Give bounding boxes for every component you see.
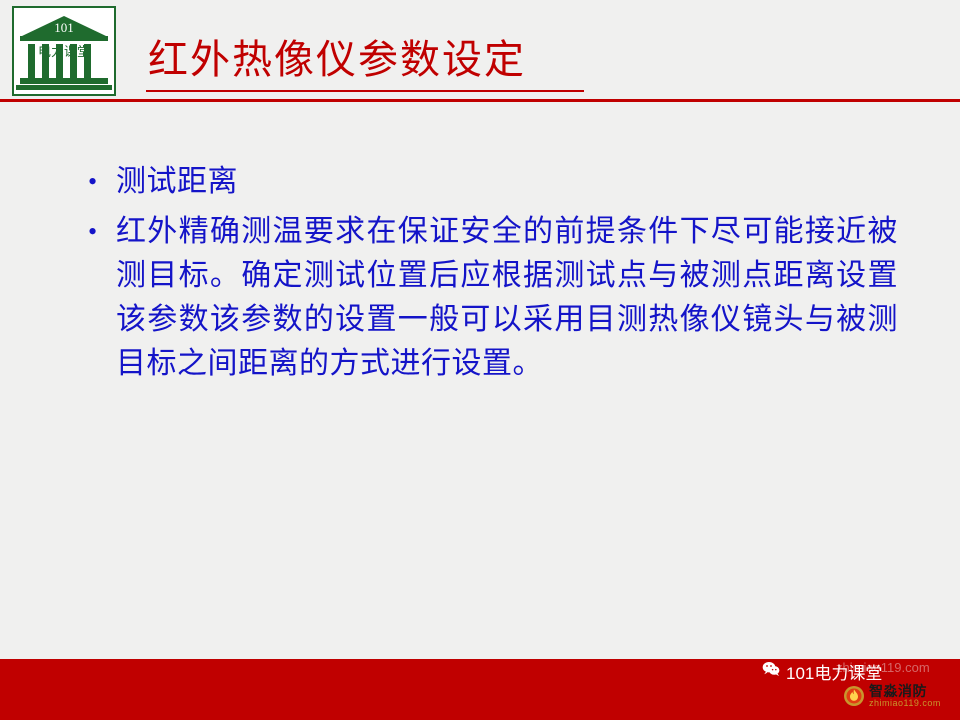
list-item: • 测试距离 bbox=[88, 160, 898, 204]
wechat-icon bbox=[762, 661, 780, 682]
bullet-marker-icon: • bbox=[88, 210, 116, 254]
slide: 101 电力课堂 红外热像仪参数设定 • 测试距离 • 红外精确测温要求在保证安… bbox=[0, 0, 960, 720]
wechat-account-name: 101电力课堂 bbox=[786, 659, 882, 684]
wechat-watermark: 101电力课堂 bbox=[762, 659, 882, 684]
slide-content: • 测试距离 • 红外精确测温要求在保证安全的前提条件下尽可能接近被测目标。确定… bbox=[88, 160, 898, 386]
svg-text:101: 101 bbox=[54, 20, 74, 35]
page-title: 红外热像仪参数设定 bbox=[148, 36, 526, 84]
bullet-marker-icon: • bbox=[88, 160, 116, 204]
brand-text-block: 智淼消防 zhimiao119.com bbox=[869, 684, 941, 708]
svg-text:电力课堂: 电力课堂 bbox=[38, 44, 90, 59]
brand-title: 智淼消防 bbox=[869, 684, 941, 698]
list-item-text: 测试距离 bbox=[116, 160, 898, 204]
list-item-text: 红外精确测温要求在保证安全的前提条件下尽可能接近被测目标。确定测试位置后应根据测… bbox=[116, 210, 898, 386]
slide-header: 101 电力课堂 红外热像仪参数设定 bbox=[0, 0, 960, 101]
brand-watermark: 智淼消防 zhimiao119.com bbox=[843, 684, 941, 708]
flame-badge-icon bbox=[843, 685, 865, 707]
title-underline bbox=[146, 90, 584, 92]
list-item: • 红外精确测温要求在保证安全的前提条件下尽可能接近被测目标。确定测试位置后应根… bbox=[88, 210, 898, 386]
header-divider bbox=[0, 99, 960, 102]
logo-101-power-classroom: 101 电力课堂 bbox=[12, 6, 116, 96]
brand-subtitle: zhimiao119.com bbox=[869, 699, 941, 708]
